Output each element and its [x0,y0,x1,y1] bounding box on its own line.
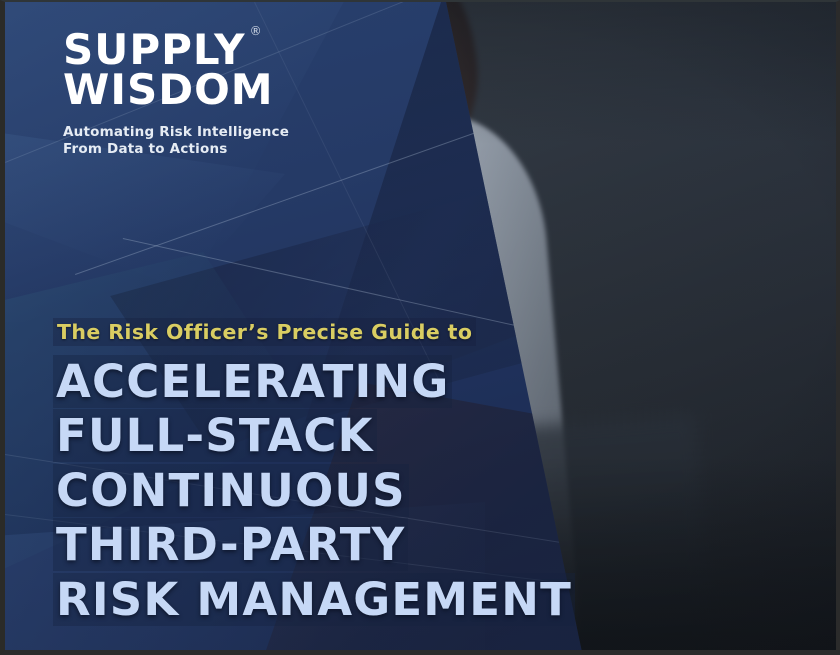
headline-line-4: THIRD-PARTY [53,518,573,572]
title-eyebrow: The Risk Officer’s Precise Guide to [53,318,476,346]
headline-line-1-text: ACCELERATING [53,355,452,408]
registered-trademark-icon: ® [250,26,263,38]
logo-word-wisdom: WISDOM [63,70,393,110]
headline-line-5-text: RISK MANAGEMENT [53,573,575,626]
title-block: The Risk Officer’s Precise Guide to ACCE… [53,318,573,627]
logo-wordmark: SUPPLY ® WISDOM [63,30,393,111]
page-title: ACCELERATING FULL-STACK CONTINUOUS THIRD… [53,355,573,627]
headline-line-1: ACCELERATING [53,355,573,409]
headline-line-5: RISK MANAGEMENT [53,573,573,627]
headline-line-2-text: FULL-STACK [53,409,377,462]
headline-line-3: CONTINUOUS [53,464,573,518]
headline-line-3-text: CONTINUOUS [53,464,409,517]
headline-line-2: FULL-STACK [53,409,573,463]
logo-tagline: Automating Risk Intelligence From Data t… [63,124,393,160]
headline-line-4-text: THIRD-PARTY [53,518,408,571]
logo-word-supply: SUPPLY ® [63,30,246,70]
logo-tagline-line2: From Data to Actions [63,141,393,159]
cover-page: SUPPLY ® WISDOM Automating Risk Intellig… [0,0,840,655]
logo-tagline-line1: Automating Risk Intelligence [63,124,393,142]
supply-wisdom-logo: SUPPLY ® WISDOM Automating Risk Intellig… [63,30,393,159]
logo-word-supply-text: SUPPLY [63,25,246,74]
